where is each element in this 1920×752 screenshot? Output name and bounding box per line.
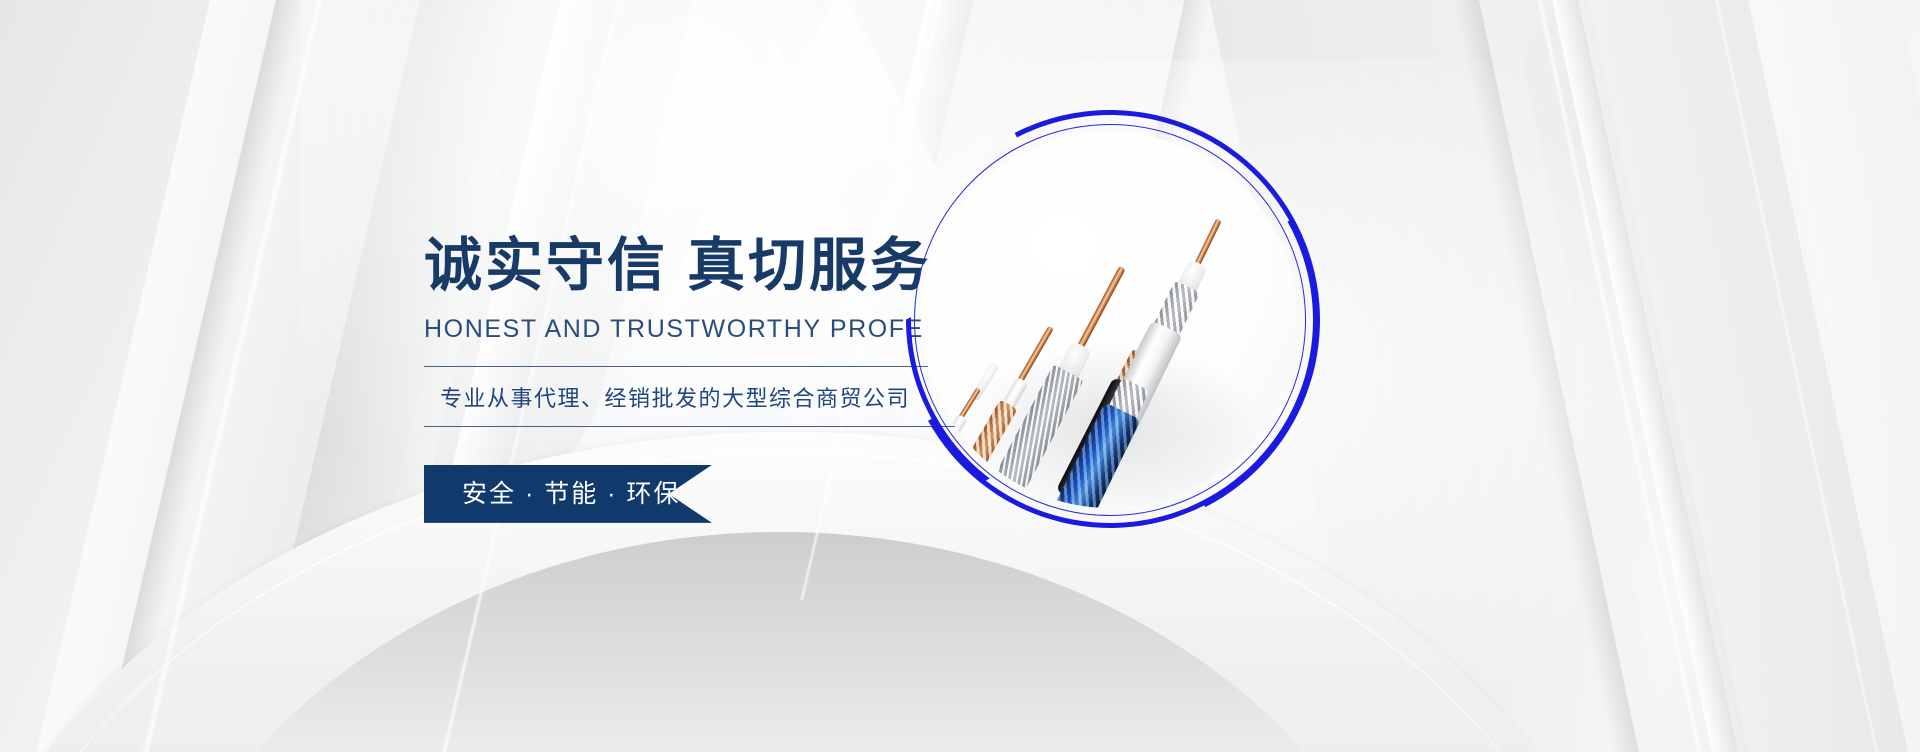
bg-right-panel-2 [1525,0,1780,752]
ribbon-label: 安全 · 节能 · 环保 [424,465,712,523]
bg-sheen-1 [112,0,347,752]
bg-shade-3 [1440,0,1662,752]
banner-tagline: 专业从事代理、经销批发的大型综合商贸公司 [424,367,978,426]
bg-right-panel-4 [1718,0,1920,752]
bg-sheen-4 [1511,0,1731,752]
bg-right-panel-3 [1548,0,1920,752]
bg-shade-1 [82,0,320,752]
medallion-ring-arc-bottom [853,63,1368,578]
feature-ribbon-badge[interactable]: 安全 · 节能 · 环保 [424,465,712,523]
divider-bottom [424,426,978,427]
divider-top [424,366,978,367]
hero-banner: 诚实守信 真切服务 HONEST AND TRUSTWORTHY PROFESS… [0,0,1920,752]
bg-sheen-5 [1689,0,1907,752]
tagline-group: 专业从事代理、经销批发的大型综合商贸公司 [424,366,978,427]
bg-floor-shadow [120,532,1440,752]
product-medallion: RG-6 75Ω [900,110,1320,530]
